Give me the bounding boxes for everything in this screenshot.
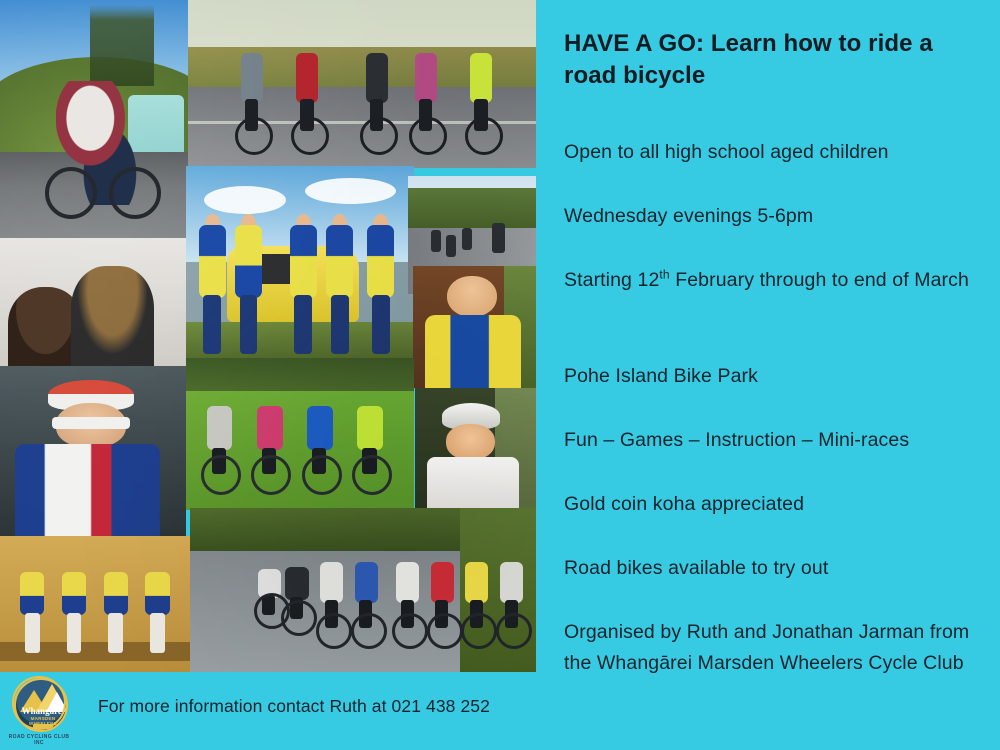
cyclist-figure — [349, 554, 383, 649]
detail-venue: Pohe Island Bike Park — [564, 361, 984, 392]
photo-collage — [0, 0, 536, 672]
bicycle-wheel — [45, 167, 97, 219]
photo-drink-stop — [0, 536, 190, 672]
teen-head — [71, 266, 154, 366]
cyclist-figure — [462, 228, 472, 250]
cyclist-figure — [425, 554, 459, 649]
page-title: HAVE A GO: Learn how to ride a road bicy… — [564, 28, 984, 91]
cyclist-figure — [250, 401, 290, 495]
sunglasses — [52, 417, 130, 429]
cyclist-figure — [460, 554, 494, 649]
team-member — [195, 214, 229, 354]
detail-cost: Gold coin koha appreciated — [564, 489, 984, 520]
detail-audience: Open to all high school aged children — [564, 137, 984, 168]
photo-group-road — [188, 0, 536, 168]
cyclist-figure — [355, 47, 399, 155]
detail-dates: Starting 12th February through to end of… — [564, 265, 984, 296]
photo-teens-table — [0, 238, 188, 366]
cyclist-figure — [492, 223, 505, 253]
detail-organisers: Organised by Ruth and Jonathan Jarman fr… — [564, 617, 984, 679]
cyclist-figure — [431, 230, 441, 252]
logo-ring — [12, 676, 66, 730]
team-member — [323, 214, 357, 354]
photo-grass-riders — [186, 358, 414, 510]
photo-clubhouse-rider — [0, 366, 186, 536]
photo-team-yellow-car — [186, 166, 414, 366]
detail-dates-prefix: Starting 12 — [564, 269, 659, 291]
photo-white-helmet-girl — [415, 388, 536, 516]
face — [447, 276, 496, 317]
club-jersey — [425, 315, 521, 388]
trees — [90, 5, 154, 86]
cloud — [305, 178, 396, 204]
cyclist-figure — [446, 235, 456, 257]
cloud — [204, 186, 286, 214]
tricolour-jersey — [15, 444, 160, 536]
team-member — [232, 214, 266, 354]
rider-figure — [57, 563, 91, 653]
rider-figure — [15, 563, 49, 653]
cyclist-figure — [315, 554, 349, 649]
cyclist-figure — [230, 47, 274, 155]
bicycle-wheel — [109, 167, 161, 219]
info-panel: HAVE A GO: Learn how to ride a road bicy… — [536, 0, 1000, 750]
cyclist-figure — [459, 47, 503, 155]
tree-line — [408, 188, 536, 230]
cyclist-figure — [494, 554, 528, 649]
cyclist-figure — [200, 401, 240, 495]
team-member — [364, 214, 398, 354]
detail-time: Wednesday evenings 5-6pm — [564, 201, 984, 232]
detail-activities: Fun – Games – Instruction – Mini-races — [564, 425, 984, 456]
ordinal-suffix: th — [659, 268, 669, 282]
poster-root: HAVE A GO: Learn how to ride a road bicy… — [0, 0, 1000, 750]
cyclist-figure — [404, 47, 448, 155]
rider-figure — [99, 563, 133, 653]
rider-figure — [141, 563, 175, 653]
footer: Whangārei MARSDEN WHEELERS ROAD CYCLING … — [0, 672, 536, 750]
cyclist-figure — [285, 47, 329, 155]
face — [446, 424, 494, 460]
club-logo: Whangārei MARSDEN WHEELERS ROAD CYCLING … — [12, 676, 70, 746]
hedge — [186, 358, 414, 391]
cyclist-figure — [350, 401, 390, 495]
detail-dates-suffix: February through to end of March — [670, 269, 969, 291]
team-member — [286, 214, 320, 354]
detail-equipment: Road bikes available to try out — [564, 553, 984, 584]
cyclist-figure — [391, 554, 425, 649]
contact-text: For more information contact Ruth at 021… — [98, 696, 528, 717]
logo-caption: ROAD CYCLING CLUB INC — [8, 734, 70, 746]
cyclist-figure — [300, 401, 340, 495]
photo-peloton — [190, 508, 536, 672]
photo-club-jersey-man — [413, 266, 536, 388]
photo-lone-rider — [0, 0, 188, 238]
cyclist-figure — [280, 560, 314, 635]
